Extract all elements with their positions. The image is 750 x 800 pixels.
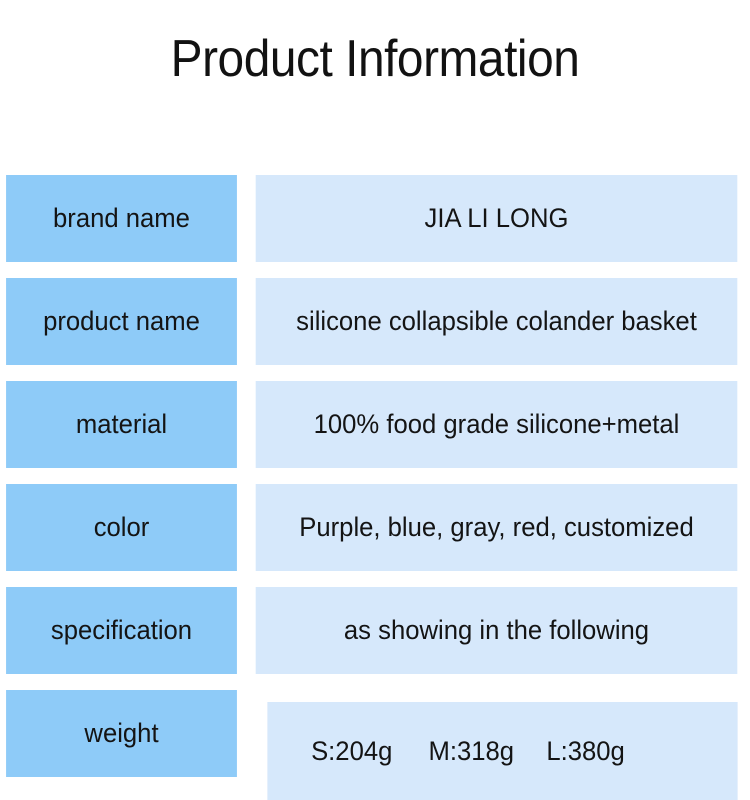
table-row: specification as showing in the followin… xyxy=(0,587,750,674)
spec-label-product-name: product name xyxy=(6,278,237,365)
spec-label-color: color xyxy=(6,484,237,571)
spec-label-brand-name: brand name xyxy=(6,175,237,262)
page-title: Product Information xyxy=(30,28,720,90)
weight-medium: M:318g xyxy=(428,736,514,767)
spec-value-material: 100% food grade silicone+metal xyxy=(256,381,738,468)
spec-label-material: material xyxy=(6,381,237,468)
specification-table: brand name JIA LI LONG product name sili… xyxy=(0,175,750,777)
table-row: product name silicone collapsible coland… xyxy=(0,278,750,365)
spec-value-specification: as showing in the following xyxy=(256,587,738,674)
weight-large: L:380g xyxy=(546,736,624,767)
table-row: color Purple, blue, gray, red, customize… xyxy=(0,484,750,571)
table-row: weight S:204g M:318g L:380g xyxy=(0,690,750,777)
spec-value-product-name: silicone collapsible colander basket xyxy=(256,278,738,365)
spec-value-brand-name: JIA LI LONG xyxy=(256,175,738,262)
table-row: brand name JIA LI LONG xyxy=(0,175,750,262)
spec-label-specification: specification xyxy=(6,587,237,674)
weight-small: S:204g xyxy=(311,736,392,767)
spec-value-color: Purple, blue, gray, red, customized xyxy=(256,484,738,571)
spec-label-weight: weight xyxy=(6,690,237,777)
spec-value-weight: S:204g M:318g L:380g xyxy=(267,702,737,800)
product-information-page: Product Information brand name JIA LI LO… xyxy=(0,0,750,800)
table-row: material 100% food grade silicone+metal xyxy=(0,381,750,468)
